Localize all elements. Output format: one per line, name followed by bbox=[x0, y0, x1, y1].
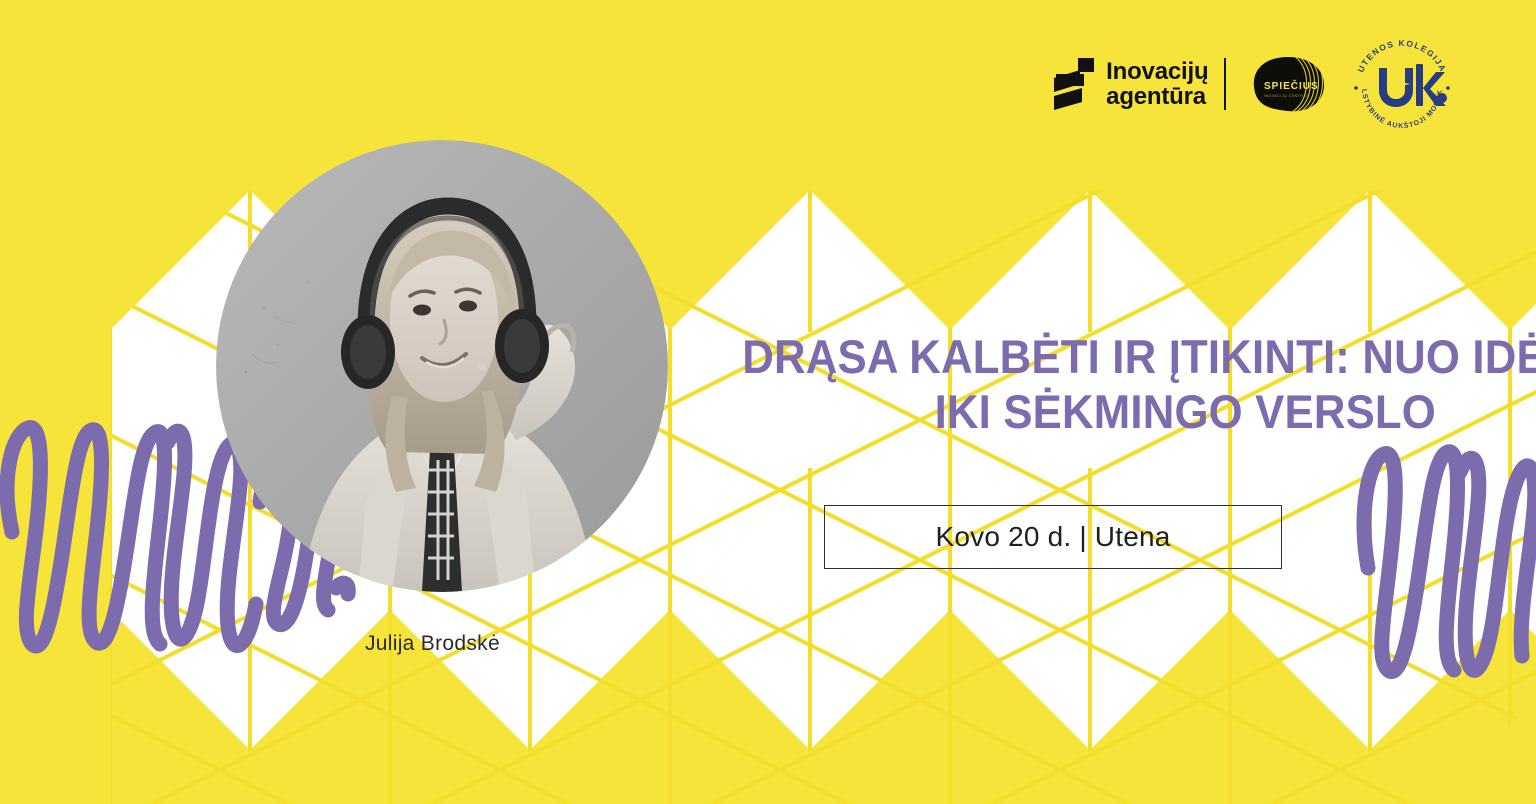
title-line-1: DRĄSA KALBĖTI IR ĮTIKINTI: NUO IDĖJOS bbox=[742, 330, 1436, 385]
logo-line-2: agentūra bbox=[1106, 84, 1208, 109]
spiecius-name: SPIEČIUS bbox=[1264, 79, 1319, 92]
uk-arc-top: UTENOS KOLEGIJA bbox=[1355, 38, 1448, 74]
speaker-name: Julija Brodskė bbox=[365, 632, 500, 656]
spiecius-logo: SPIEČIUS INOVACIJŲ CENTRAS bbox=[1242, 53, 1328, 115]
title-line-2: IKI SĖKMINGO VERSLO bbox=[742, 385, 1436, 440]
logo-line-1: Inovacijų bbox=[1106, 59, 1208, 84]
spiecius-subtitle: INOVACIJŲ CENTRAS bbox=[1264, 94, 1309, 98]
logo-row: Inovacijų agentūra SPIEČIUS bbox=[1054, 36, 1458, 132]
event-poster: Julija Brodskė DRĄSA KALBĖTI IR ĮTIKINTI… bbox=[0, 0, 1536, 804]
utenos-kolegija-logo: UTENOS KOLEGIJA VALSTYBINĖ AUKŠTOJI MOKY… bbox=[1346, 28, 1458, 140]
inovaciju-agentura-wordmark: Inovacijų agentūra bbox=[1106, 59, 1208, 110]
speaker-portrait bbox=[216, 140, 668, 592]
date-location-text: Kovo 20 d. | Utena bbox=[935, 521, 1170, 553]
inovaciju-agentura-logo: Inovacijų agentūra bbox=[1054, 58, 1208, 110]
page-title: DRĄSA KALBĖTI IR ĮTIKINTI: NUO IDĖJOS IK… bbox=[690, 330, 1436, 440]
inovaciju-agentura-mark-icon bbox=[1054, 58, 1096, 110]
logo-divider bbox=[1224, 58, 1226, 110]
date-location-box: Kovo 20 d. | Utena bbox=[824, 505, 1282, 569]
purple-scribble-right-icon bbox=[1352, 398, 1536, 698]
portrait-photo bbox=[216, 140, 668, 592]
